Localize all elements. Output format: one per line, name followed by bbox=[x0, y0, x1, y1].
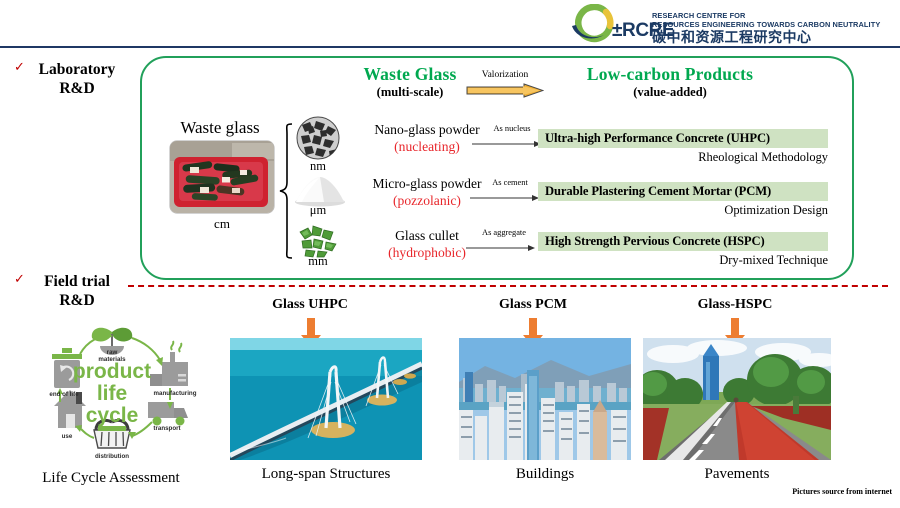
field-title-hspc: Glass-HSPC bbox=[640, 297, 830, 313]
micro-role-label: As cement bbox=[472, 178, 548, 187]
sem-nano-particles-icon bbox=[296, 116, 340, 160]
lca-stage-label-2: transport bbox=[153, 425, 180, 432]
product-label-hspc: High Strength Pervious Concrete (HSPC) bbox=[545, 234, 765, 249]
section-label-field-trial: Field trial R&D bbox=[18, 272, 136, 310]
low-carbon-title: Low-carbon Products bbox=[540, 64, 800, 85]
cullet-role-label: As aggregate bbox=[466, 228, 542, 237]
lab-label-line1: Laboratory bbox=[18, 60, 136, 79]
white-powder-cone-icon bbox=[294, 173, 346, 207]
org-name-cn: 碳中和资源工程研究中心 bbox=[652, 27, 812, 47]
product-box-pcm: Durable Plastering Cement Mortar (PCM) bbox=[538, 182, 828, 201]
photo-caption-buildings: Buildings bbox=[459, 466, 631, 483]
life-cycle-diagram: product life cycle raw materials manufac… bbox=[12, 318, 212, 468]
lca-center-line2: life bbox=[97, 382, 127, 405]
photo-caption-pavements: Pavements bbox=[643, 466, 831, 483]
micro-scale-label: μm bbox=[288, 203, 348, 218]
product-method-uhpc: Rheological Methodology bbox=[538, 150, 828, 165]
lca-caption: Life Cycle Assessment bbox=[6, 470, 216, 487]
lca-stage-label-3: distribution bbox=[95, 453, 129, 460]
micro-role-arrow-icon bbox=[470, 188, 540, 208]
product-label-uhpc: Ultra-high Performance Concrete (UHPC) bbox=[545, 131, 770, 146]
nano-scale-label: nm bbox=[288, 159, 348, 174]
lca-stage-label-4: use bbox=[62, 433, 73, 440]
lca-stage-label-5: end of life bbox=[49, 391, 79, 398]
page-header: ±RCRE RESEARCH CENTRE FOR RESOURCES ENGI… bbox=[0, 0, 900, 48]
photo-caption-bridge: Long-span Structures bbox=[230, 466, 422, 483]
cullet-role-arrow-icon bbox=[466, 238, 536, 258]
green-cullet-icon bbox=[294, 222, 346, 258]
lca-stage-label-1: manufacturing bbox=[154, 390, 197, 397]
picture-credit: Pictures source from internet bbox=[700, 487, 892, 496]
waste-glass-photo bbox=[170, 141, 274, 213]
nano-role-arrow-icon bbox=[472, 134, 542, 154]
transport-icon bbox=[148, 402, 188, 426]
product-box-uhpc: Ultra-high Performance Concrete (UHPC) bbox=[538, 129, 828, 148]
low-carbon-subtitle: (value-added) bbox=[540, 85, 800, 100]
product-method-pcm: Optimization Design bbox=[538, 203, 828, 218]
bridge-photo bbox=[230, 338, 422, 460]
header-divider bbox=[0, 46, 900, 48]
lab-label-line2: R&D bbox=[18, 79, 136, 98]
field-title-pcm: Glass PCM bbox=[448, 297, 618, 313]
field-title-uhpc: Glass UHPC bbox=[220, 297, 400, 313]
lca-stage-label-0b: materials bbox=[98, 356, 126, 363]
manufacturing-icon bbox=[150, 341, 188, 386]
field-label-line1: Field trial bbox=[18, 272, 136, 291]
waste-glass-scale: cm bbox=[170, 216, 274, 232]
section-label-laboratory: Laboratory R&D bbox=[18, 60, 136, 98]
field-label-line2: R&D bbox=[18, 291, 136, 310]
lca-center-line1: product bbox=[73, 360, 151, 383]
product-label-pcm: Durable Plastering Cement Mortar (PCM) bbox=[545, 184, 771, 199]
city-photo bbox=[459, 338, 631, 460]
cullet-scale-label: mm bbox=[288, 254, 348, 269]
valorization-label: Valorization bbox=[462, 70, 548, 80]
waste-glass-source-label: Waste glass bbox=[164, 118, 276, 138]
lca-center-line3: cycle bbox=[86, 404, 139, 427]
field-trial-divider bbox=[128, 285, 888, 287]
product-box-hspc: High Strength Pervious Concrete (HSPC) bbox=[538, 232, 828, 251]
pavement-photo bbox=[643, 338, 831, 460]
grouping-brace-icon bbox=[278, 122, 294, 260]
lca-stage-label-0: raw bbox=[107, 349, 118, 356]
product-method-hspc: Dry-mixed Technique bbox=[538, 253, 828, 268]
valorization-arrow-icon bbox=[466, 83, 544, 98]
